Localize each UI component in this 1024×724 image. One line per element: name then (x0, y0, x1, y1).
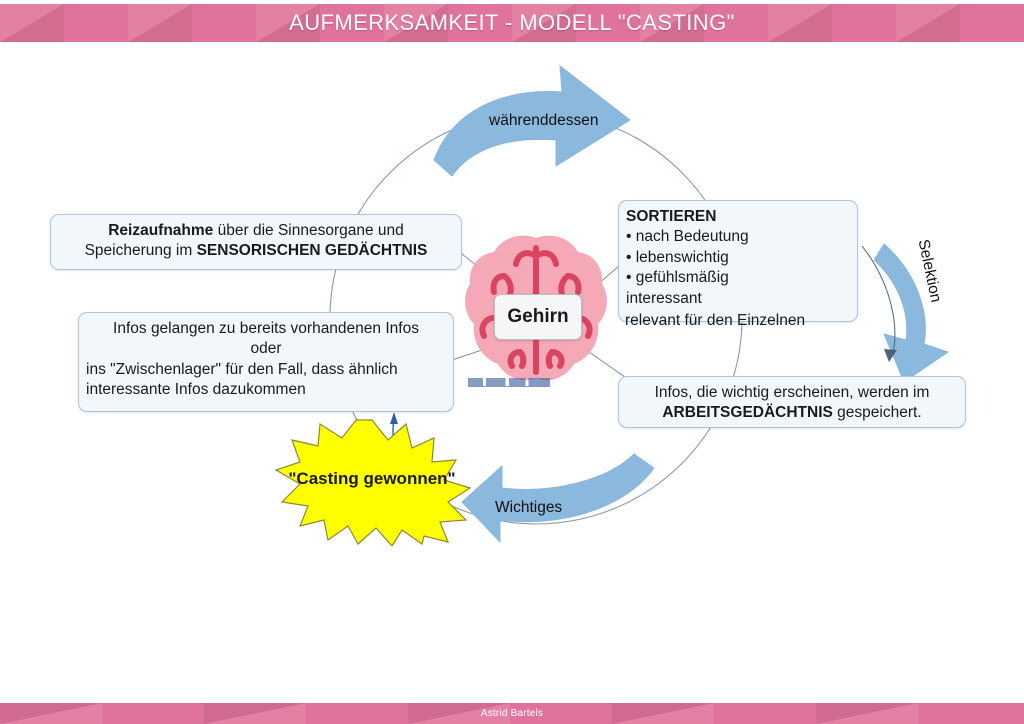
brain-label-text: Gehirn (507, 306, 568, 328)
infos-line4: interessante Infos dazukommen (86, 380, 446, 400)
sortieren-bullet-3: • gefühlsmäßig (626, 268, 850, 288)
infos-line1: Infos gelangen zu bereits vorhandenen In… (86, 319, 446, 339)
sortieren-title: SORTIEREN (626, 207, 850, 227)
reizaufnahme-line2: Speicherung im SENSORISCHEN GEDÄCHTNIS (58, 241, 454, 261)
textbox-reizaufnahme: Reizaufnahme über die Sinnesorgane und S… (50, 214, 462, 270)
starburst-label: "Casting gewonnen" (262, 469, 482, 489)
sortieren-continuation: interessant (626, 289, 850, 309)
arbeit-bold: ARBEITSGEDÄCHTNIS (662, 404, 833, 421)
infos-line2: oder (86, 339, 446, 359)
reizaufnahme-bold-2: SENSORISCHEN GEDÄCHTNIS (197, 242, 428, 259)
footer-author: Astrid Bartels (0, 703, 1024, 724)
sortieren-overflow-text: relevant für den Einzelnen (625, 312, 925, 330)
arbeit-line2: ARBEITSGEDÄCHTNIS gespeichert. (626, 403, 958, 423)
sortieren-bullet-2: • lebenswichtig (626, 248, 850, 268)
slide-canvas: AUFMERKSAMKEIT - MODELL "CASTING" (0, 0, 1024, 724)
reizaufnahme-text-2: Speicherung im (85, 242, 197, 259)
textbox-sortieren: SORTIEREN • nach Bedeutung • lebenswicht… (618, 200, 858, 322)
reizaufnahme-text-1: über die Sinnesorgane und (213, 222, 403, 239)
reizaufnahme-line1: Reizaufnahme über die Sinnesorgane und (58, 221, 454, 241)
infos-line3: ins "Zwischenlager" für den Fall, dass ä… (86, 360, 446, 380)
arrow-label-wichtiges: Wichtiges (495, 499, 562, 517)
brain-label-box: Gehirn (494, 294, 582, 340)
arbeit-line1: Infos, die wichtig erscheinen, werden im (626, 383, 958, 403)
textbox-arbeitsgedaechtnis: Infos, die wichtig erscheinen, werden im… (618, 376, 966, 428)
textbox-infos-gelangen: Infos gelangen zu bereits vorhandenen In… (78, 312, 454, 412)
brain-image-credit (468, 378, 550, 387)
arbeit-text: gespeichert. (833, 404, 922, 421)
reizaufnahme-bold-1: Reizaufnahme (108, 222, 213, 239)
sortieren-bullet-1: • nach Bedeutung (626, 227, 850, 247)
arrow-label-waehrenddessen: währenddessen (489, 112, 598, 130)
arrow-wichtiges (462, 454, 654, 542)
